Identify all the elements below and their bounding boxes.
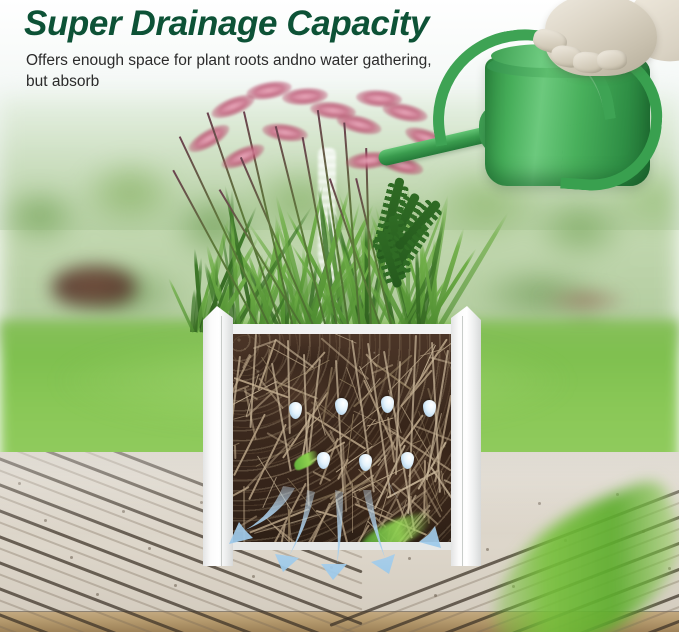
drainage-arrow-1 — [229, 486, 295, 544]
drainage-arrow-3 — [321, 490, 347, 580]
grass-plume — [185, 120, 233, 158]
drainage-arrow-5 — [389, 482, 441, 548]
headline: Super Drainage Capacity — [24, 4, 494, 44]
deck-screw — [18, 482, 21, 485]
deck-screw — [70, 556, 73, 559]
text-block: Super Drainage Capacity Offers enough sp… — [24, 4, 494, 92]
drainage-arrows — [203, 306, 481, 570]
grass-plume — [219, 139, 268, 173]
deck-screw — [96, 593, 99, 596]
gardening-glove — [545, 0, 657, 76]
product-feature-image: Super Drainage Capacity Offers enough sp… — [0, 0, 679, 632]
deck-screw — [122, 510, 125, 513]
glove-finger-4 — [597, 49, 628, 70]
deck-screw — [252, 575, 255, 578]
deck-screw — [486, 548, 489, 551]
background-bush — [52, 266, 136, 306]
raised-garden-bed — [203, 306, 481, 570]
subtext: Offers enough space for plant roots andn… — [26, 50, 438, 92]
deck-screw — [174, 584, 177, 587]
deck-screw — [434, 594, 437, 597]
drainage-arrow-4 — [363, 490, 395, 574]
deck-screw — [538, 502, 541, 505]
deck-screw — [44, 519, 47, 522]
deck-screw — [148, 547, 151, 550]
